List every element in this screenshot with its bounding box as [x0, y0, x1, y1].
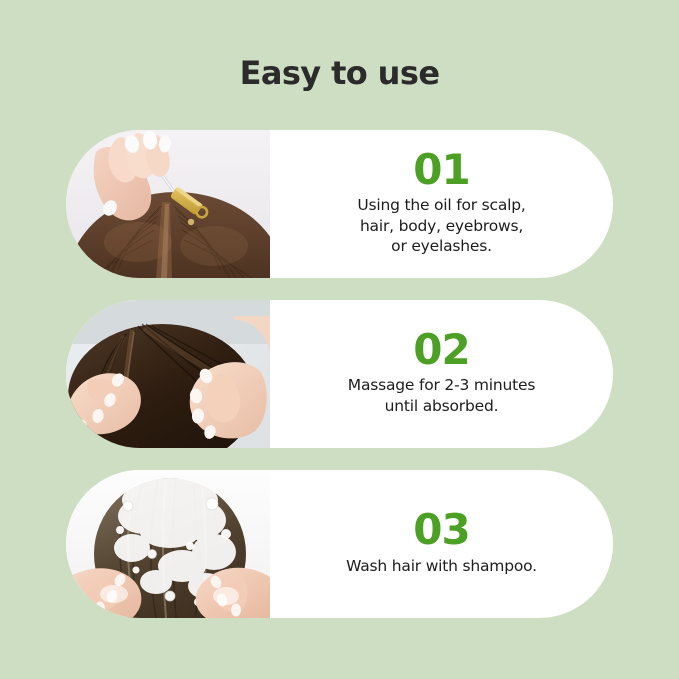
step-number-03: 03: [413, 509, 469, 552]
step-description-03: Wash hair with shampoo.: [346, 556, 537, 577]
page-title: Easy to use: [0, 54, 679, 92]
step-number-01: 01: [413, 149, 469, 192]
step-content-02: 02 Massage for 2-3 minutes until absorbe…: [270, 300, 613, 448]
step-content-01: 01 Using the oil for scalp, hair, body, …: [270, 130, 613, 278]
step-description-01: Using the oil for scalp, hair, body, eye…: [357, 195, 525, 257]
infographic-page: Easy to use: [0, 0, 679, 679]
dropper-applying-oil-to-scalp-photo: [66, 130, 270, 278]
washing-hair-with-shampoo-lather-photo: [66, 470, 270, 618]
step-card-02: 02 Massage for 2-3 minutes until absorbe…: [66, 300, 613, 448]
step-content-03: 03 Wash hair with shampoo.: [270, 470, 613, 618]
step-card-01: 01 Using the oil for scalp, hair, body, …: [66, 130, 613, 278]
step-description-02: Massage for 2-3 minutes until absorbed.: [348, 375, 535, 416]
step-card-03: 03 Wash hair with shampoo.: [66, 470, 613, 618]
hands-massaging-scalp-photo: [66, 300, 270, 448]
step-number-02: 02: [413, 329, 469, 372]
steps-list: 01 Using the oil for scalp, hair, body, …: [66, 130, 613, 618]
